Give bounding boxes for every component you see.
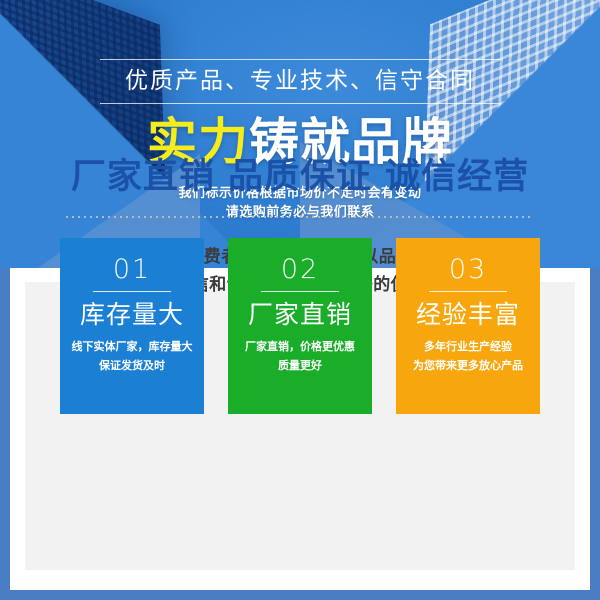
card-divider	[429, 291, 507, 292]
card-description: 厂家直销，价格更优惠 质量更好	[228, 337, 372, 375]
hero-tagline: 优质产品、专业技术、信守合同	[100, 60, 500, 103]
card-description-line-2: 为您带来更多放心产品	[396, 356, 540, 375]
bottom-headline: 厂家直销 品质保证 诚信经营	[0, 155, 600, 199]
hero-text-block: 优质产品、专业技术、信守合同 实力铸就品牌 我们标示价格根据市场价不定时会有变动…	[0, 0, 600, 272]
card-number: 03	[396, 255, 540, 285]
hero-subtext-line-2: 请选购前务必与我们联系	[0, 203, 600, 222]
bottom-dotted-divider	[66, 216, 534, 218]
feature-card-01[interactable]: 01 库存量大 线下实体厂家，库存量大 保证发货及时	[60, 238, 204, 414]
card-description-line-2: 保证发货及时	[60, 356, 204, 375]
tagline-container: 优质产品、专业技术、信守合同	[100, 59, 500, 104]
frame-border-bottom	[0, 590, 600, 600]
card-title: 经验丰富	[396, 299, 540, 331]
frame-border-left	[0, 268, 10, 600]
card-title: 厂家直销	[228, 299, 372, 331]
tagline-rule-bottom	[100, 103, 500, 104]
card-description-line-1: 线下实体厂家，库存量大	[60, 337, 204, 356]
promo-banner: 优质产品、专业技术、信守合同 实力铸就品牌 我们标示价格根据市场价不定时会有变动…	[0, 0, 600, 600]
card-description-line-1: 厂家直销，价格更优惠	[228, 337, 372, 356]
card-divider	[93, 291, 171, 292]
card-divider	[261, 291, 339, 292]
card-description: 多年行业生产经验 为您带来更多放心产品	[396, 337, 540, 375]
feature-card-03[interactable]: 03 经验丰富 多年行业生产经验 为您带来更多放心产品	[396, 238, 540, 414]
feature-card-02[interactable]: 02 厂家直销 厂家直销，价格更优惠 质量更好	[228, 238, 372, 414]
feature-card-list: 01 库存量大 线下实体厂家，库存量大 保证发货及时 02 厂家直销 厂家直销，…	[0, 238, 600, 416]
card-number: 01	[60, 255, 204, 285]
card-description-line-2: 质量更好	[228, 356, 372, 375]
card-title: 库存量大	[60, 299, 204, 331]
card-number: 02	[228, 255, 372, 285]
card-description: 线下实体厂家，库存量大 保证发货及时	[60, 337, 204, 375]
frame-border-right	[590, 268, 600, 600]
card-description-line-1: 多年行业生产经验	[396, 337, 540, 356]
